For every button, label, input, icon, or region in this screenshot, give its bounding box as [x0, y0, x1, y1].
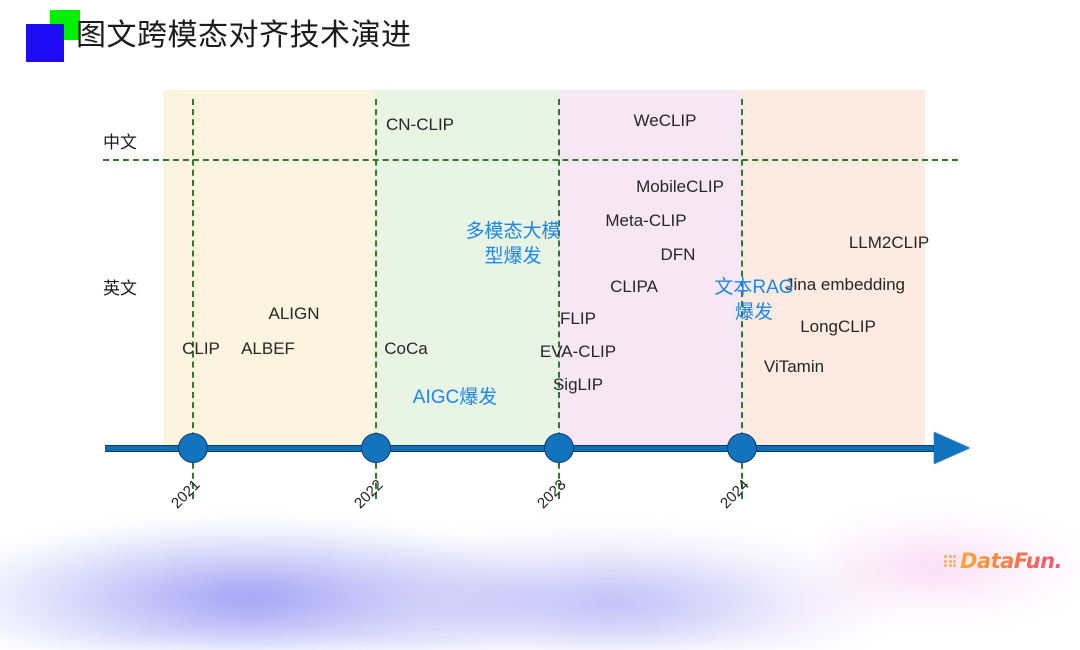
datafun-wordmark: DataFun. — [960, 549, 1062, 573]
tech-label-meta-clip: Meta-CLIP — [605, 211, 686, 231]
tech-label-jina-embedding: Jina embedding — [785, 275, 905, 295]
timeline-arrow-icon — [934, 432, 970, 464]
era-band-0 — [163, 90, 375, 445]
tech-label-vitamin: ViTamin — [764, 357, 824, 377]
year-label-2022: 2022 — [351, 476, 387, 512]
gridline-horizontal-row-divider — [103, 159, 958, 161]
tech-label-align: ALIGN — [268, 304, 319, 324]
timeline-marker-2023[interactable] — [544, 433, 574, 463]
datafun-dots-icon — [944, 555, 956, 567]
annotation-1: AIGC爆发 — [413, 385, 497, 410]
annotation-0: 多模态大模型爆发 — [465, 219, 560, 269]
annotation-2: 文本RAG爆发 — [714, 275, 793, 325]
tech-label-eva-clip: EVA-CLIP — [540, 342, 616, 362]
year-label-2021: 2021 — [168, 476, 204, 512]
row-label-中文: 中文 — [103, 128, 137, 153]
tech-label-cn-clip: CN-CLIP — [386, 115, 454, 135]
year-label-2023: 2023 — [534, 476, 570, 512]
timeline-chart: 中文英文 CN-CLIPWeCLIPCLIPALIGNALBEFCoCaSigL… — [0, 0, 1080, 608]
timeline-marker-2022[interactable] — [361, 433, 391, 463]
era-band-3 — [742, 90, 925, 445]
year-label-2024: 2024 — [717, 476, 753, 512]
tech-label-clipa: CLIPA — [610, 277, 658, 297]
tech-label-coca: CoCa — [384, 339, 427, 359]
timeline-marker-2021[interactable] — [178, 433, 208, 463]
timeline-axis-line — [105, 445, 935, 452]
tech-label-siglip: SigLIP — [553, 375, 603, 395]
tech-label-flip: FLIP — [560, 309, 596, 329]
tech-label-clip: CLIP — [182, 339, 220, 359]
datafun-watermark: DataFun. — [944, 548, 1062, 574]
tech-label-dfn: DFN — [661, 245, 696, 265]
tech-label-weclip: WeCLIP — [634, 111, 697, 131]
tech-label-longclip: LongCLIP — [800, 317, 876, 337]
row-label-英文: 英文 — [103, 274, 137, 299]
tech-label-mobileclip: MobileCLIP — [636, 177, 724, 197]
tech-label-albef: ALBEF — [241, 339, 295, 359]
tech-label-llm2clip: LLM2CLIP — [849, 233, 929, 253]
timeline-marker-2024[interactable] — [727, 433, 757, 463]
